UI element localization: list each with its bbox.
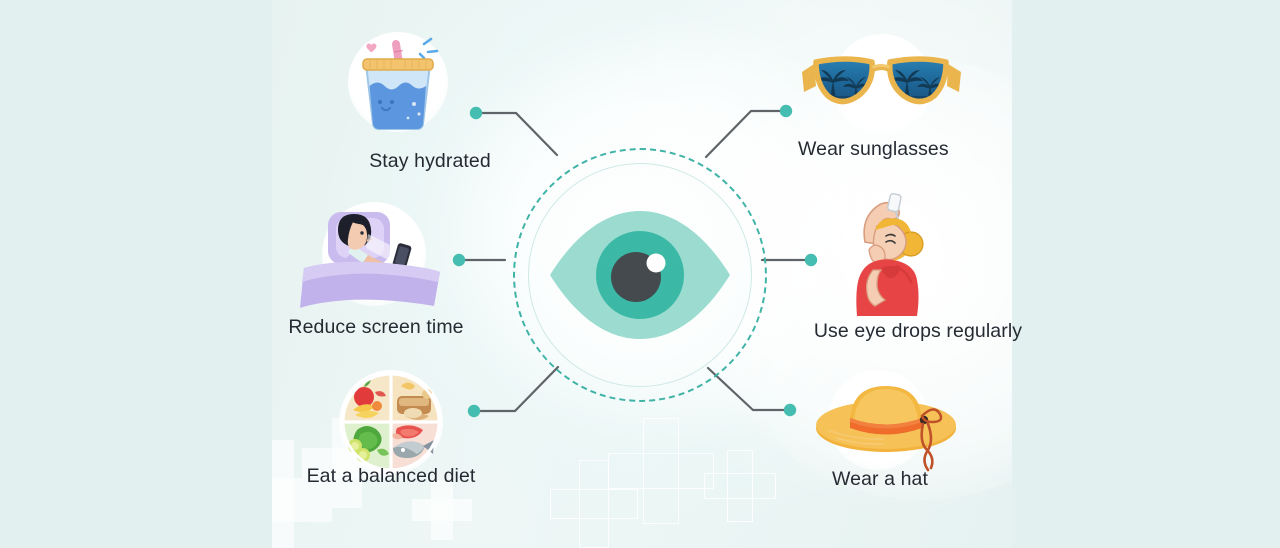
cross-shape-outline bbox=[608, 418, 712, 522]
water-glass-icon bbox=[344, 30, 452, 134]
node-label-wear-sunglasses: Wear sunglasses bbox=[798, 138, 1128, 161]
person-in-bed-phone-icon bbox=[296, 202, 460, 314]
infographic-canvas: Stay hydrated bbox=[0, 0, 1280, 548]
node-eat-balanced-diet[interactable]: Eat a balanced diet bbox=[295, 372, 595, 502]
sun-hat-icon bbox=[806, 372, 972, 478]
food-plate-icon bbox=[335, 366, 447, 478]
node-label-stay-hydrated: Stay hydrated bbox=[330, 150, 530, 173]
woman-eye-drops-icon bbox=[823, 186, 953, 316]
node-wear-sunglasses[interactable]: Wear sunglasses bbox=[798, 28, 1098, 178]
sunglasses-icon bbox=[800, 50, 970, 142]
node-label-use-eye-drops: Use eye drops regularly bbox=[763, 320, 1073, 343]
background-left-band bbox=[0, 0, 272, 548]
node-stay-hydrated[interactable]: Stay hydrated bbox=[330, 32, 590, 182]
node-reduce-screen-time[interactable]: Reduce screen time bbox=[278, 198, 578, 348]
node-label-reduce-screen-time: Reduce screen time bbox=[278, 316, 474, 339]
node-label-wear-a-hat: Wear a hat bbox=[800, 468, 960, 491]
node-label-eat-balanced-diet: Eat a balanced diet bbox=[295, 465, 487, 488]
node-use-eye-drops[interactable]: Use eye drops regularly bbox=[763, 188, 1073, 348]
cross-shape-outline bbox=[704, 450, 774, 520]
node-wear-a-hat[interactable]: Wear a hat bbox=[800, 372, 1090, 502]
